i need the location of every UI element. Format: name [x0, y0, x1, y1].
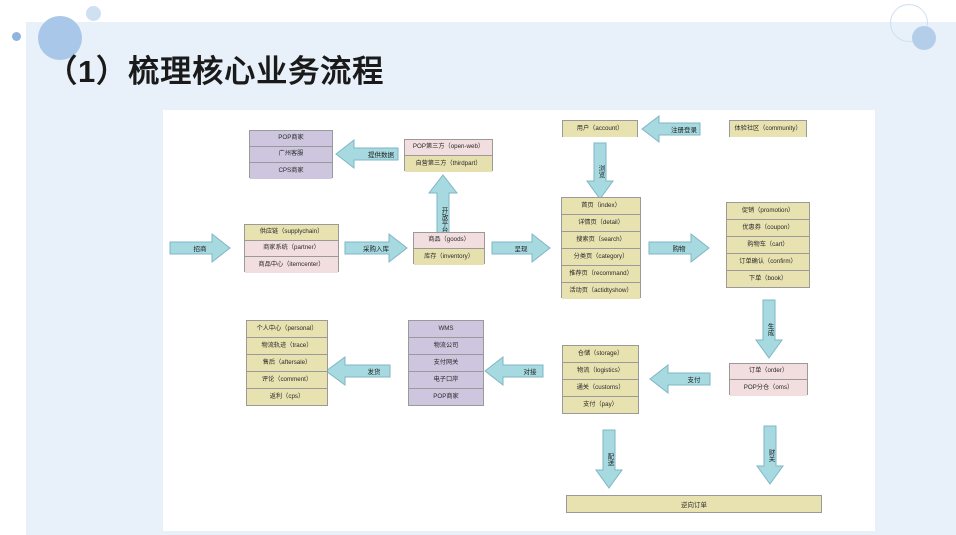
page-title: （1）梳理核心业务流程: [46, 46, 384, 91]
node-aftersale-2: 售后（aftersale）: [247, 355, 327, 372]
node-group-after-sale: 个人中心（personal） 物流轨迹（trace） 售后（aftersale）…: [246, 320, 328, 406]
top-white-margin: [0, 0, 956, 22]
node-group-wms: WMS 物流公司 支付网关 电子口岸 POP商家: [408, 320, 484, 406]
node-order-0: 订单（order）: [730, 364, 807, 380]
arrow-generate: 生成: [755, 300, 783, 358]
node-supply-1: 商家系统（partner）: [245, 241, 338, 257]
node-goods-0: 商品（goods）: [414, 233, 484, 249]
node-fulfillment-1: 物流（logistics）: [563, 363, 638, 380]
decorative-dot: [12, 32, 21, 41]
arrow-present: 呈现: [492, 232, 550, 264]
node-trade-0: 促销（promotion）: [727, 203, 809, 220]
node-third-party-1: 自营第三方（thirdpart）: [405, 156, 492, 172]
node-aftersale-3: 评论（comment）: [247, 372, 327, 389]
node-trade-1: 优惠券（coupon）: [727, 220, 809, 237]
node-wms-1: 物流公司: [409, 338, 483, 355]
node-wms-2: 支付网关: [409, 355, 483, 372]
arrow-shopping: 购物: [649, 232, 709, 264]
slide: （1）梳理核心业务流程 POP商家 广州客服 CPS商家 POP第三方（open…: [0, 0, 956, 535]
node-group-third-party: POP第三方（open-web） 自营第三方（thirdpart）: [404, 139, 493, 171]
node-aftersale-4: 返利（cps）: [247, 389, 327, 405]
node-group-community: 体验社区（community）: [729, 120, 807, 137]
node-merchants-0: POP商家: [250, 131, 332, 147]
node-supply-2: 商品中心（itemcenter）: [245, 257, 338, 273]
node-trade-3: 订单确认（confirm）: [727, 254, 809, 271]
arrow-browse: 浏览: [586, 143, 614, 199]
node-trade-4: 下单（book）: [727, 271, 809, 287]
reverse-order-bar: 逆向订单: [566, 495, 822, 513]
arrow-open-platform: 开放平台: [428, 175, 458, 237]
business-flow-diagram: POP商家 广州客服 CPS商家 POP第三方（open-web） 自营第三方（…: [163, 110, 875, 531]
node-aftersale-0: 个人中心（personal）: [247, 321, 327, 338]
node-aftersale-1: 物流轨迹（trace）: [247, 338, 327, 355]
node-fulfillment-3: 支付（pay）: [563, 397, 638, 413]
node-merchants-2: CPS商家: [250, 163, 332, 179]
node-group-trade: 促销（promotion） 优惠券（coupon） 购物车（cart） 订单确认…: [726, 202, 810, 288]
arrow-provide-data: 提供数据: [336, 138, 398, 170]
node-group-account: 用户（account）: [562, 120, 638, 137]
node-wms-3: 电子口岸: [409, 372, 483, 389]
arrow-dock: 对接: [485, 355, 543, 387]
node-pages-5: 活动页（actidtyshow）: [562, 283, 640, 299]
arrow-pay: 支付: [650, 363, 710, 395]
arrow-customs-clear: 财关: [756, 426, 784, 484]
node-group-merchants: POP商家 广州客服 CPS商家: [249, 130, 333, 178]
node-goods-1: 库存（inventory）: [414, 249, 484, 265]
node-wms-4: POP商家: [409, 389, 483, 405]
arrow-delivery: 配送: [595, 430, 623, 488]
decorative-circle-top-right: [912, 26, 936, 50]
node-third-party-0: POP第三方（open-web）: [405, 140, 492, 156]
node-group-goods: 商品（goods） 库存（inventory）: [413, 232, 485, 264]
node-community-0: 体验社区（community）: [730, 121, 806, 137]
node-supply-0: 供应链（supplychain）: [245, 225, 338, 241]
node-trade-2: 购物车（cart）: [727, 237, 809, 254]
node-order-1: POP分仓（oms）: [730, 380, 807, 396]
node-fulfillment-2: 通关（customs）: [563, 380, 638, 397]
arrow-purchase-in: 采购入库: [345, 232, 407, 264]
node-pages-1: 详情页（detail）: [562, 215, 640, 232]
node-pages-0: 首页（index）: [562, 198, 640, 215]
node-account-0: 用户（account）: [563, 121, 637, 137]
node-pages-4: 推荐页（recommand）: [562, 266, 640, 283]
left-white-margin: [0, 0, 26, 535]
node-fulfillment-0: 仓储（storage）: [563, 346, 638, 363]
node-group-fulfillment: 仓储（storage） 物流（logistics） 通关（customs） 支付…: [562, 345, 639, 414]
decorative-circle-small: [86, 6, 101, 21]
arrow-zhaoshang: 招商: [170, 232, 230, 264]
node-pages-3: 分类页（category）: [562, 249, 640, 266]
arrow-register-login: 注册登录: [642, 114, 700, 144]
node-group-supply-chain: 供应链（supplychain） 商家系统（partner） 商品中心（item…: [244, 224, 339, 272]
node-wms-0: WMS: [409, 321, 483, 338]
node-merchants-1: 广州客服: [250, 147, 332, 163]
arrow-ship: 发货: [326, 355, 390, 387]
node-group-front-pages: 首页（index） 详情页（detail） 搜索页（search） 分类页（ca…: [561, 197, 641, 298]
node-pages-2: 搜索页（search）: [562, 232, 640, 249]
node-group-order: 订单（order） POP分仓（oms）: [729, 363, 808, 395]
